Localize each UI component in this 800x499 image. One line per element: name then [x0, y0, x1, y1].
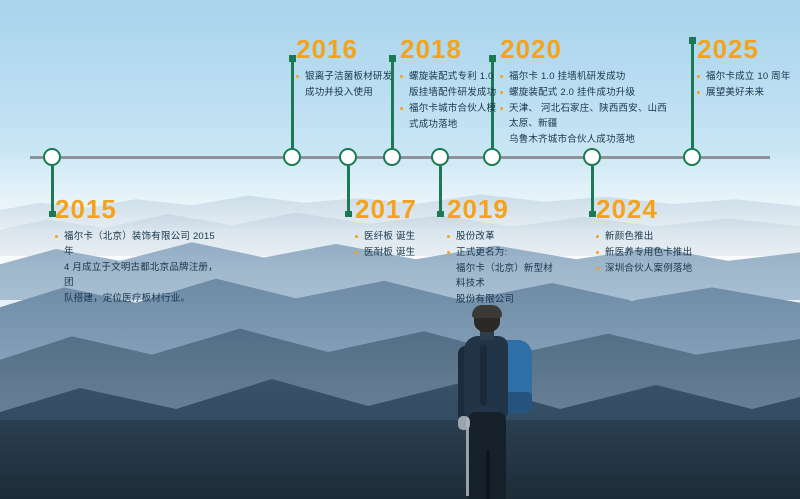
timeline-entry-2017[interactable]: 2017 医纤板 诞生 医耐板 诞生	[355, 196, 455, 261]
foreground-valley	[0, 420, 800, 499]
bullet-list-2019: 股份改革 正式更名为: 福尔卡（北京）新型材料技术 股份有限公司	[447, 229, 562, 307]
timeline-entry-2016[interactable]: 2016 银离子洁菌板材研发 成功并投入使用	[296, 36, 401, 101]
hiker-leg-split	[486, 450, 490, 499]
bullet-list-2025: 福尔卡成立 10 周年 展望美好未来	[697, 69, 797, 100]
bullet-item: 股份改革	[447, 229, 562, 244]
bullet-item: 福尔卡成立 10 周年	[697, 69, 797, 84]
bullet-item: 新颜色推出	[596, 229, 726, 244]
timeline-node-2018[interactable]	[383, 148, 401, 166]
timeline-node-2016[interactable]	[283, 148, 301, 166]
timeline-stem-2024	[591, 166, 594, 214]
bullet-item: 医耐板 诞生	[355, 245, 455, 260]
bullet-item: 福尔卡（北京）装饰有限公司 2015 年	[55, 229, 225, 259]
timeline-node-2024[interactable]	[583, 148, 601, 166]
timeline-infographic: 2015 福尔卡（北京）装饰有限公司 2015 年 4 月成立于文明古都北京品牌…	[0, 0, 800, 499]
timeline-node-2025[interactable]	[683, 148, 701, 166]
year-label-2015: 2015	[55, 196, 225, 222]
bullet-item: 式成功落地	[400, 117, 505, 132]
timeline-entry-2018[interactable]: 2018 螺旋装配式专利 1.0 版挂墙配件研发成功 福尔卡城市合伙人模 式成功…	[400, 36, 505, 133]
timeline-node-2017[interactable]	[339, 148, 357, 166]
bullet-item: 福尔卡城市合伙人模	[400, 101, 505, 116]
bullet-item: 4 月成立于文明古都北京品牌注册，团	[55, 260, 225, 290]
year-label-2018: 2018	[400, 36, 505, 62]
backpack-strap	[480, 344, 487, 406]
bullet-item: 版挂墙配件研发成功	[400, 85, 505, 100]
timeline-entry-2019[interactable]: 2019 股份改革 正式更名为: 福尔卡（北京）新型材料技术 股份有限公司	[447, 196, 562, 308]
timeline-entry-2024[interactable]: 2024 新颜色推出 新医养专用色卡推出 深圳合伙人案例落地	[596, 196, 726, 277]
bullet-item: 深圳合伙人案例落地	[596, 261, 726, 276]
timeline-stem-2017	[347, 166, 350, 214]
bullet-item: 福尔卡（北京）新型材料技术	[447, 261, 562, 291]
bullet-list-2016: 银离子洁菌板材研发 成功并投入使用	[296, 69, 401, 100]
bullet-item: 天津、 河北石家庄、陕西西安、山西太原、新疆	[500, 101, 675, 131]
timeline-node-2019[interactable]	[431, 148, 449, 166]
timeline-stem-2025	[691, 40, 694, 148]
bullet-item: 乌鲁木齐城市合伙人成功落地	[500, 132, 675, 147]
bullet-item: 医纤板 诞生	[355, 229, 455, 244]
bullet-item: 成功并投入使用	[296, 85, 401, 100]
bullet-item: 银离子洁菌板材研发	[296, 69, 401, 84]
year-label-2025: 2025	[697, 36, 797, 62]
trekking-pole	[466, 418, 469, 496]
bullet-item: 福尔卡 1.0 挂墙机研发成功	[500, 69, 675, 84]
bullet-item: 股份有限公司	[447, 292, 562, 307]
year-label-2019: 2019	[447, 196, 562, 222]
year-label-2024: 2024	[596, 196, 726, 222]
bullet-list-2018: 螺旋装配式专利 1.0 版挂墙配件研发成功 福尔卡城市合伙人模 式成功落地	[400, 69, 505, 132]
bullet-item: 正式更名为:	[447, 245, 562, 260]
bullet-list-2024: 新颜色推出 新医养专用色卡推出 深圳合伙人案例落地	[596, 229, 726, 276]
bullet-list-2020: 福尔卡 1.0 挂墙机研发成功 螺旋装配式 2.0 挂件成功升级 天津、 河北石…	[500, 69, 675, 147]
timeline-stem-2016	[291, 58, 294, 148]
bullet-item: 螺旋装配式专利 1.0	[400, 69, 505, 84]
timeline-entry-2025[interactable]: 2025 福尔卡成立 10 周年 展望美好未来	[697, 36, 797, 101]
timeline-stem-2015	[51, 166, 54, 214]
bullet-item: 队搭建，定位医疗板材行业。	[55, 291, 225, 306]
timeline-node-2020[interactable]	[483, 148, 501, 166]
timeline-node-2015[interactable]	[43, 148, 61, 166]
bullet-item: 螺旋装配式 2.0 挂件成功升级	[500, 85, 675, 100]
timeline-entry-2015[interactable]: 2015 福尔卡（北京）装饰有限公司 2015 年 4 月成立于文明古都北京品牌…	[55, 196, 225, 307]
bullet-item: 新医养专用色卡推出	[596, 245, 726, 260]
timeline-entry-2020[interactable]: 2020 福尔卡 1.0 挂墙机研发成功 螺旋装配式 2.0 挂件成功升级 天津…	[500, 36, 675, 148]
bullet-list-2017: 医纤板 诞生 医耐板 诞生	[355, 229, 455, 260]
bullet-list-2015: 福尔卡（北京）装饰有限公司 2015 年 4 月成立于文明古都北京品牌注册，团 …	[55, 229, 225, 306]
year-label-2016: 2016	[296, 36, 401, 62]
hiker-figure	[436, 300, 556, 499]
bullet-item: 展望美好未来	[697, 85, 797, 100]
year-label-2020: 2020	[500, 36, 675, 62]
year-label-2017: 2017	[355, 196, 455, 222]
